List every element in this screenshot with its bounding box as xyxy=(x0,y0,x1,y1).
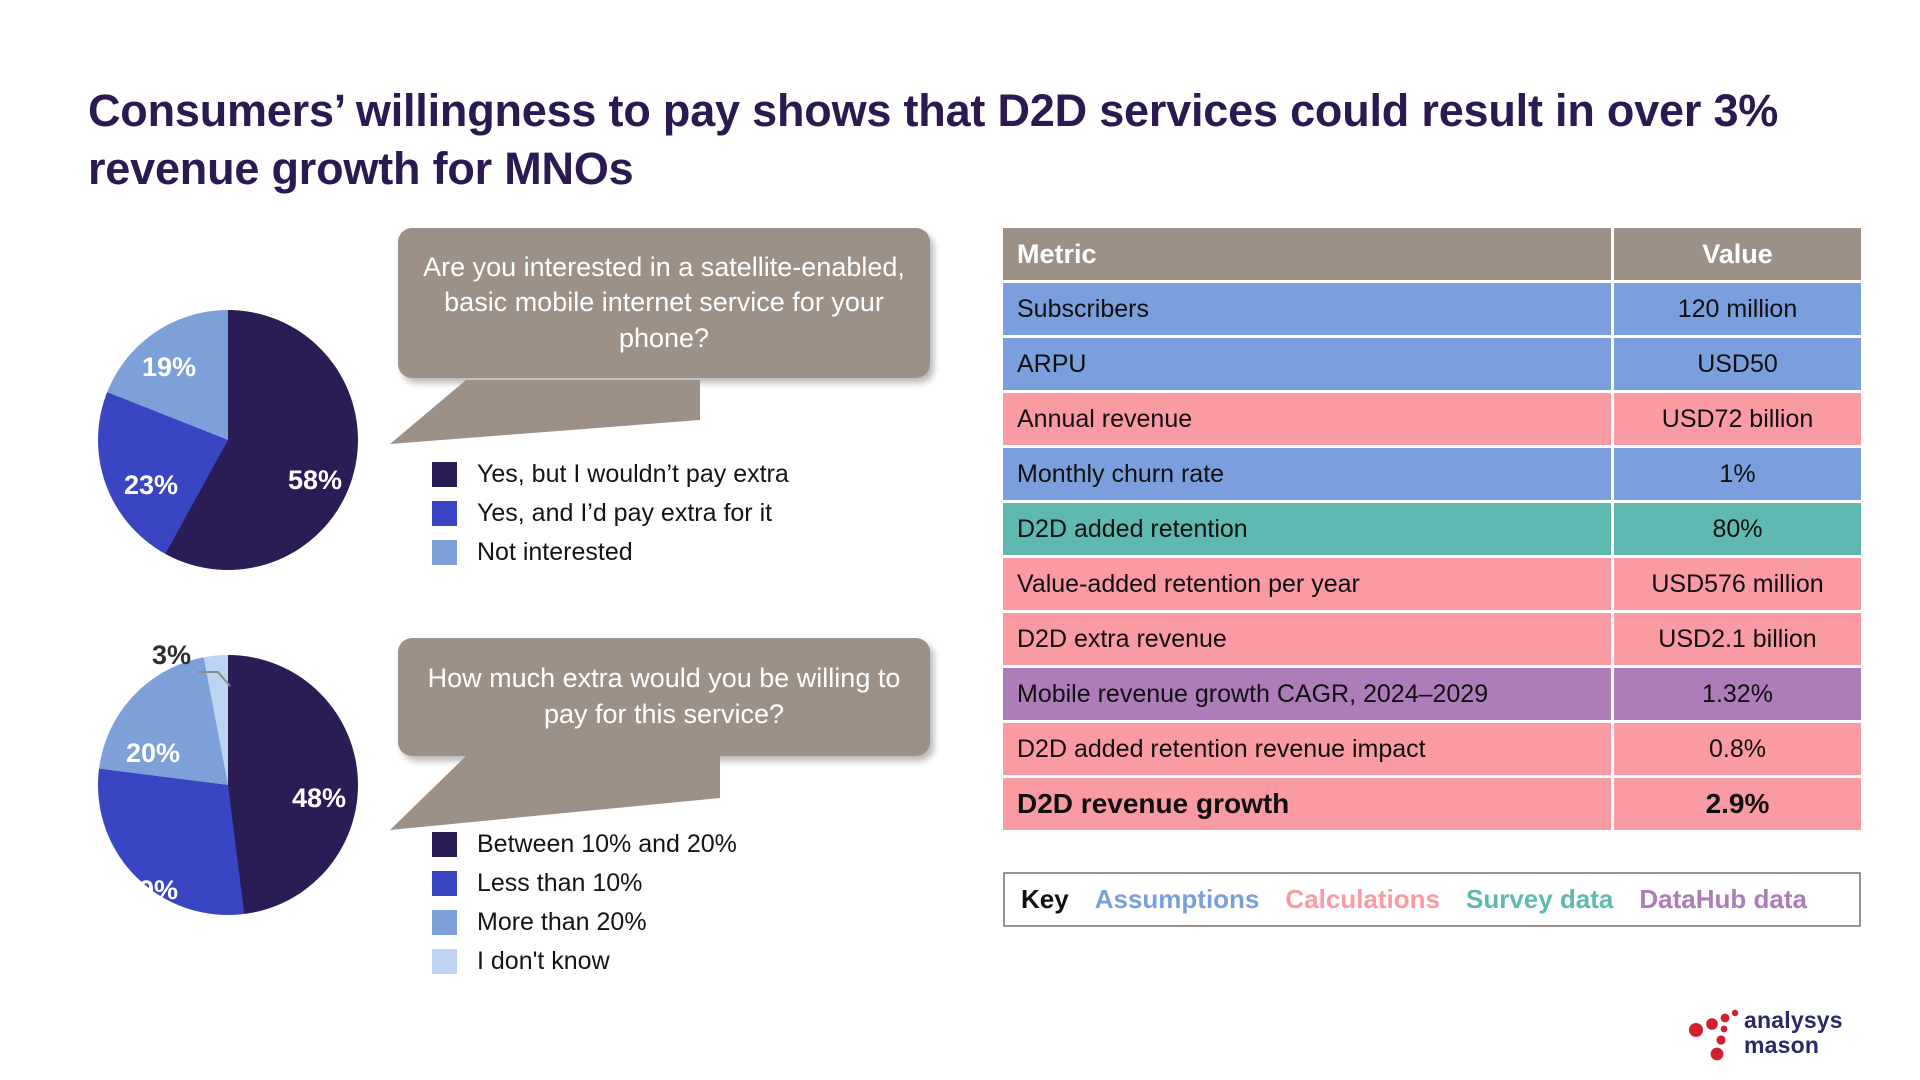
pie2-slice-label-3: 3% xyxy=(152,640,191,671)
pie1-slice-label-1: 23% xyxy=(124,470,178,501)
table-cell-value: USD2.1 billion xyxy=(1614,613,1861,665)
table-row: Monthly churn rate1% xyxy=(1003,448,1861,500)
legend-swatch-2 xyxy=(432,540,457,565)
legend-item: I don't know xyxy=(432,942,737,981)
legend-label-0: Yes, but I wouldn’t pay extra xyxy=(477,460,789,489)
legend-pie2: Between 10% and 20% Less than 10% More t… xyxy=(432,825,737,981)
table-cell-value: USD576 million xyxy=(1614,558,1861,610)
pie2-slice-label-2: 20% xyxy=(126,738,180,769)
legend-swatch-1 xyxy=(432,501,457,526)
table-cell-metric: D2D added retention xyxy=(1003,503,1611,555)
legend-item: Less than 10% xyxy=(432,864,737,903)
table-body: Subscribers120 millionARPUUSD50Annual re… xyxy=(1003,283,1861,830)
logo-line-1: analysys xyxy=(1744,1008,1843,1033)
legend-swatch-0 xyxy=(432,832,457,857)
callout-pie2-tail xyxy=(380,748,720,836)
table-header-metric: Metric xyxy=(1003,228,1611,280)
logo-line-2: mason xyxy=(1744,1033,1843,1058)
table-cell-metric: Monthly churn rate xyxy=(1003,448,1611,500)
legend-label-2: Not interested xyxy=(477,538,633,567)
table-row: Value-added retention per yearUSD576 mil… xyxy=(1003,558,1861,610)
callout-pie1-tail xyxy=(380,370,700,450)
table-row: D2D extra revenueUSD2.1 billion xyxy=(1003,613,1861,665)
table-cell-metric: Annual revenue xyxy=(1003,393,1611,445)
legend-item: Yes, and I’d pay extra for it xyxy=(432,494,789,533)
table-cell-metric: D2D added retention revenue impact xyxy=(1003,723,1611,775)
table-cell-value: 120 million xyxy=(1614,283,1861,335)
table-row: D2D revenue growth2.9% xyxy=(1003,778,1861,830)
legend-swatch-1 xyxy=(432,871,457,896)
key-item-survey-data: Survey data xyxy=(1466,884,1613,915)
pie1-slice-label-0: 58% xyxy=(288,465,342,496)
table-cell-metric: Mobile revenue growth CAGR, 2024–2029 xyxy=(1003,668,1611,720)
legend-item: Yes, but I wouldn’t pay extra xyxy=(432,455,789,494)
legend-swatch-0 xyxy=(432,462,457,487)
legend-swatch-2 xyxy=(432,910,457,935)
legend-label-1: Yes, and I’d pay extra for it xyxy=(477,499,772,528)
legend-label-2: More than 20% xyxy=(477,908,647,937)
legend-item: Between 10% and 20% xyxy=(432,825,737,864)
table-row: D2D added retention revenue impact0.8% xyxy=(1003,723,1861,775)
pie2-label-leader-line xyxy=(196,646,258,690)
legend-swatch-3 xyxy=(432,949,457,974)
pie-chart-interest xyxy=(98,310,358,570)
key-item-assumptions: Assumptions xyxy=(1095,884,1260,915)
legend-pie1: Yes, but I wouldn’t pay extra Yes, and I… xyxy=(432,455,789,572)
table-cell-metric: Value-added retention per year xyxy=(1003,558,1611,610)
table-row: Mobile revenue growth CAGR, 2024–20291.3… xyxy=(1003,668,1861,720)
table-cell-value: USD72 billion xyxy=(1614,393,1861,445)
legend-item: Not interested xyxy=(432,533,789,572)
table-cell-value: 1% xyxy=(1614,448,1861,500)
table-cell-value: 80% xyxy=(1614,503,1861,555)
legend-label-0: Between 10% and 20% xyxy=(477,830,737,859)
key-item-calculations: Calculations xyxy=(1285,884,1440,915)
legend-label-1: Less than 10% xyxy=(477,869,642,898)
table-cell-metric: D2D revenue growth xyxy=(1003,778,1611,830)
legend-item: More than 20% xyxy=(432,903,737,942)
logo-wordmark: analysys mason xyxy=(1744,1008,1843,1058)
table-cell-value: 0.8% xyxy=(1614,723,1861,775)
pie2-slice-label-0: 48% xyxy=(292,783,346,814)
table-row: Annual revenueUSD72 billion xyxy=(1003,393,1861,445)
key-title: Key xyxy=(1021,884,1069,915)
metrics-table: Metric Value Subscribers120 millionARPUU… xyxy=(1003,228,1861,833)
pie1-slice-label-2: 19% xyxy=(142,352,196,383)
key-legend-box: Key Assumptions Calculations Survey data… xyxy=(1003,872,1861,927)
callout-pie1-question: Are you interested in a satellite-enable… xyxy=(398,228,930,378)
page-title: Consumers’ willingness to pay shows that… xyxy=(88,82,1878,197)
logo-dots-icon xyxy=(1688,1004,1744,1066)
table-cell-metric: D2D extra revenue xyxy=(1003,613,1611,665)
callout-pie2-question: How much extra would you be willing to p… xyxy=(398,638,930,756)
table-row: D2D added retention80% xyxy=(1003,503,1861,555)
slide: Consumers’ willingness to pay shows that… xyxy=(0,0,1920,1080)
table-header-value: Value xyxy=(1614,228,1861,280)
table-row: ARPUUSD50 xyxy=(1003,338,1861,390)
table-cell-metric: ARPU xyxy=(1003,338,1611,390)
pie2-slice-label-1: 29% xyxy=(124,875,178,906)
table-cell-value: USD50 xyxy=(1614,338,1861,390)
table-row: Subscribers120 million xyxy=(1003,283,1861,335)
table-cell-value: 1.32% xyxy=(1614,668,1861,720)
legend-label-3: I don't know xyxy=(477,947,610,976)
analysys-mason-logo: analysys mason xyxy=(1688,1004,1866,1066)
table-cell-metric: Subscribers xyxy=(1003,283,1611,335)
table-header-row: Metric Value xyxy=(1003,228,1861,280)
key-item-datahub-data: DataHub data xyxy=(1639,884,1807,915)
table-cell-value: 2.9% xyxy=(1614,778,1861,830)
